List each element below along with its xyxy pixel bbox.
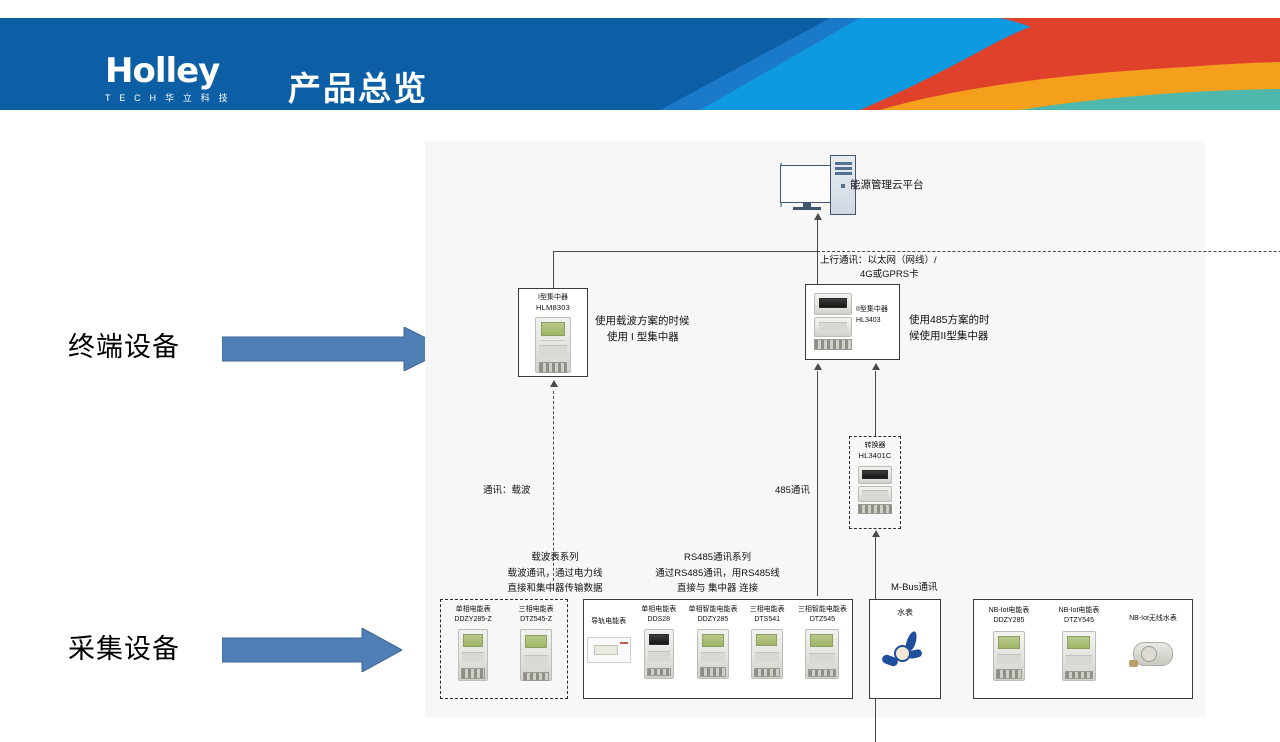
water-meter-icon [882,632,928,672]
device-code: DDS28 [647,616,670,623]
concentrator-2-code: HL3403 [856,317,881,324]
stage-arrow-terminal [222,327,448,371]
page-header: Holley T E C H 华 立 科 技 产品总览 [0,18,1280,110]
device-rs485-dds28[interactable]: 单相电能表 DDS28 [634,605,684,679]
device-name: 单相电能表 [456,606,491,613]
rail-meter-icon [587,637,631,663]
link-label-mbus: M-Bus通讯 [891,581,937,595]
desktop-pc-icon [780,155,858,217]
uplink-note-line2: 4G或GPRS卡 [860,268,919,282]
device-nbiot-ddzy285[interactable]: NB-Iot电能表 DDZY285 [979,606,1039,681]
stage-label-collection: 采集设备 [68,627,180,666]
device-name: 单相电能表 [641,606,676,613]
rs485-group-desc-line1: 通过RS485通讯，用RS485线 [580,567,855,582]
carrier-meter-group[interactable]: 单相电能表 DDZY285-Z 三相电能表 DTZ545-Z [440,599,568,699]
link-c1-up [553,251,554,288]
rs485-group-title: RS485通讯系列 [580,551,855,566]
logo-wordmark: Holley [105,54,265,88]
link-label-rs485: 485通讯 [775,484,810,498]
device-code: DDZY285 [698,616,729,623]
device-code: DTZ545-Z [520,616,552,623]
arrowhead-to-converter [872,530,880,537]
three-phase-meter-icon [520,629,552,681]
arrowhead-to-cloud [814,213,822,220]
device-name: 水表 [870,607,940,618]
concentrator-2-caption-line1: 使用485方案的时 [909,312,990,328]
link-uplink-vertical [817,219,818,251]
water-meter-group[interactable]: 水表 [869,599,941,699]
single-phase-meter-icon [535,317,571,373]
link-converter-to-c2 [875,371,876,436]
converter-name: 转换器 [865,442,886,449]
converter-node[interactable]: 转换器 HL3401C [849,436,901,529]
holley-logo: Holley T E C H 华 立 科 技 [105,54,265,104]
device-name: NB-Iot电能表 [989,607,1030,614]
device-name: 导轨电能表 [591,618,626,625]
device-rs485-ddzy285[interactable]: 单相智能电能表 DDZY285 [685,605,741,679]
link-c2-up [817,251,818,288]
device-name: NB-Iot电能表 [1059,607,1100,614]
link-label-carrier: 通讯：载波 [483,484,531,498]
stage-label-terminal: 终端设备 [68,325,180,364]
concentrator-1-code: HLM8303 [536,303,570,312]
logo-tagline: T E C H 华 立 科 技 [105,91,265,104]
nb-single-phase-meter-icon [993,631,1025,681]
concentrator-2-caption-line2: 候使用II型集中器 [909,328,988,344]
cloud-platform-node [780,155,858,217]
concentrator-1-name: I型集中器 [538,294,568,301]
architecture-diagram: 能源管理云平台 上行通讯：以太网（网线）/ 4G或GPRS卡 NB无线通讯 I型… [425,141,1205,717]
rs485-meter-group[interactable]: 导轨电能表 单相电能表 DDS28 [583,599,853,699]
converter-device-icon [858,466,892,514]
device-name: 三相智能电能表 [798,606,847,613]
device-name: NB-Iot无线水表 [1129,615,1177,622]
device-water-meter[interactable]: 水表 [870,600,940,672]
single-phase-meter-icon [458,629,488,681]
cloud-platform-label: 能源管理云平台 [850,177,924,193]
device-nbiot-water-meter[interactable]: NB-Iot无线水表 [1119,606,1187,672]
smart-three-phase-meter-icon [814,293,852,350]
arrowhead-to-concentrator-2-left [814,363,822,370]
device-rs485-dtz545[interactable]: 三相智能电能表 DTZ545 [793,605,851,679]
device-code: DDZY285 [994,617,1025,624]
nb-wireless-water-meter-icon [1127,638,1179,672]
smart-single-phase-meter-icon [697,629,729,679]
arrowhead-to-concentrator-1 [550,380,558,387]
nbiot-meter-group[interactable]: NB-Iot电能表 DDZY285 NB-Iot电能表 DTZY545 [973,599,1193,699]
device-carrier-three-phase[interactable]: 三相电能表 DTZ545-Z [519,605,554,681]
smart-three-phase-meter-icon [805,629,839,679]
rs485-group-desc-line2: 直接与 集中器 连接 [580,582,855,597]
device-name: 三相电能表 [750,606,785,613]
device-name: 单相智能电能表 [688,606,737,613]
device-code: DTS541 [754,616,780,623]
device-nbiot-dtzy545[interactable]: NB-Iot电能表 DTZY545 [1049,606,1109,681]
device-carrier-single-phase[interactable]: 单相电能表 DDZY285-Z [454,605,491,681]
uplink-note-line1: 上行通讯：以太网（网线）/ [820,254,937,268]
device-rail-meter[interactable]: 导轨电能表 [585,605,633,663]
link-backbone-horizontal [553,251,818,252]
concentrator-2-node[interactable]: II型集中器 HL3403 [805,284,900,360]
link-nb-top-horizontal [817,251,1280,252]
device-name: 三相电能表 [519,606,554,613]
device-rs485-dts541[interactable]: 三相电能表 DTS541 [742,605,792,679]
concentrator-2-name: II型集中器 [856,306,888,313]
device-code: DTZ545 [810,616,835,623]
device-code: DTZY545 [1064,617,1094,624]
device-code: DDZY285-Z [454,616,491,623]
single-phase-meter-icon [644,629,674,679]
concentrator-1-caption-line2: 使用 I 型集中器 [607,329,679,345]
arrowhead-to-concentrator-2-right [872,363,880,370]
concentrator-1-node[interactable]: I型集中器 HLM8303 [518,288,588,377]
stage-arrow-collection [222,628,402,672]
converter-code: HL3401C [858,451,891,460]
nb-three-phase-meter-icon [1062,631,1096,681]
page-title: 产品总览 [288,62,428,110]
concentrator-1-caption-line1: 使用载波方案的时候 [595,313,690,329]
three-phase-meter-icon [751,629,783,679]
